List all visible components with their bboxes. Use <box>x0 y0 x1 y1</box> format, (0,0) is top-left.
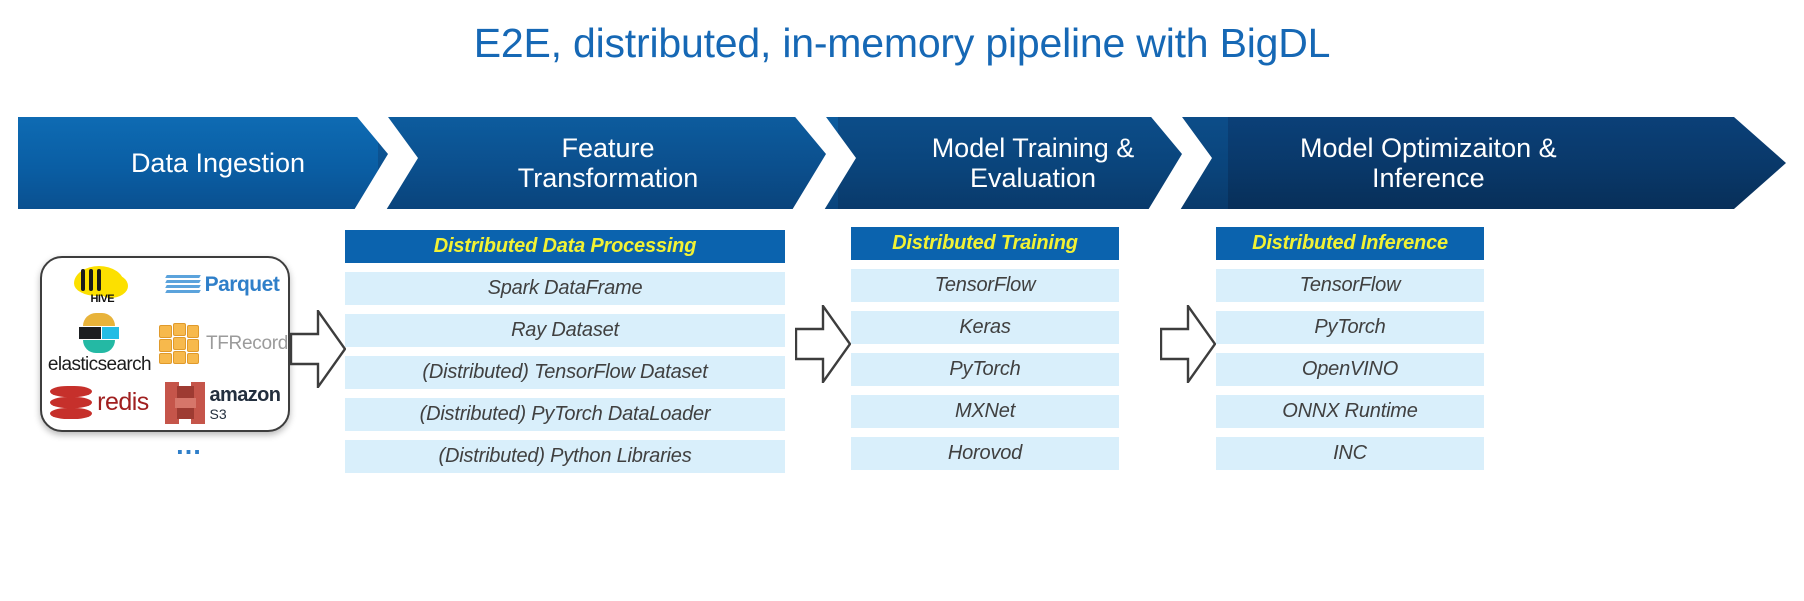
table-row[interactable]: TensorFlow <box>851 269 1119 302</box>
stage-label: Model Training & Evaluation <box>932 133 1135 194</box>
tfrecord-icon <box>157 323 201 365</box>
parquet-label: Parquet <box>205 273 280 297</box>
elasticsearch-label: elasticsearch <box>48 354 151 376</box>
table-row[interactable]: Horovod <box>851 437 1119 470</box>
flow-arrow-icon-3 <box>1160 305 1216 383</box>
hive-icon: HIVE <box>68 262 130 308</box>
stage-label-line2: Evaluation <box>932 163 1135 194</box>
stage-label-line2: Transformation <box>518 163 699 194</box>
amazon-label: amazon <box>210 385 281 405</box>
stage-model-optimization-inference[interactable]: Model Optimizaiton & Inference <box>1228 117 1786 209</box>
stage-label: Data Ingestion <box>131 148 305 179</box>
table-row[interactable]: (Distributed) PyTorch DataLoader <box>345 398 785 431</box>
stage-label-line1: Model Optimizaiton & <box>1300 133 1557 164</box>
slide-canvas: E2E, distributed, in-memory pipeline wit… <box>0 0 1804 601</box>
table-header: Distributed Inference <box>1216 227 1484 260</box>
table-row[interactable]: PyTorch <box>1216 311 1484 344</box>
parquet-logo: Parquet <box>166 273 280 297</box>
hive-label: HIVE <box>90 293 114 305</box>
table-row[interactable]: INC <box>1216 437 1484 470</box>
elasticsearch-logo: elasticsearch <box>48 313 151 376</box>
data-sources-box: HIVE Parquet elasticsearch <box>40 256 290 432</box>
hive-logo: HIVE <box>68 262 130 308</box>
table-row[interactable]: (Distributed) TensorFlow Dataset <box>345 356 785 389</box>
flow-arrow-icon-1 <box>290 310 346 388</box>
stage-label-line1: Feature <box>518 133 699 164</box>
redis-logo: redis <box>50 386 149 420</box>
table-distributed-training: Distributed Training TensorFlow Keras Py… <box>851 227 1119 470</box>
elasticsearch-icon <box>77 313 121 353</box>
table-row[interactable]: MXNet <box>851 395 1119 428</box>
table-row[interactable]: PyTorch <box>851 353 1119 386</box>
table-row[interactable]: ONNX Runtime <box>1216 395 1484 428</box>
table-distributed-data-processing: Distributed Data Processing Spark DataFr… <box>345 230 785 473</box>
table-row[interactable]: (Distributed) Python Libraries <box>345 440 785 473</box>
stage-label: Feature Transformation <box>518 133 699 194</box>
more-sources-ellipsis: … <box>175 432 204 459</box>
table-header: Distributed Training <box>851 227 1119 260</box>
table-header: Distributed Data Processing <box>345 230 785 263</box>
redis-label: redis <box>97 388 149 417</box>
amazon-s3-sublabel: S3 <box>210 407 281 421</box>
table-distributed-inference: Distributed Inference TensorFlow PyTorch… <box>1216 227 1484 470</box>
stage-model-training-evaluation[interactable]: Model Training & Evaluation <box>838 117 1228 209</box>
flow-arrow-icon-2 <box>795 305 851 383</box>
stage-label-line2: Inference <box>1300 163 1557 194</box>
redis-icon <box>50 386 92 420</box>
data-source-logo-grid: HIVE Parquet elasticsearch <box>42 258 288 430</box>
table-row[interactable]: Keras <box>851 311 1119 344</box>
stage-label-line1: Model Training & <box>932 133 1135 164</box>
stage-feature-transformation[interactable]: Feature Transformation <box>378 117 838 209</box>
table-row[interactable]: TensorFlow <box>1216 269 1484 302</box>
page-title: E2E, distributed, in-memory pipeline wit… <box>0 20 1804 67</box>
stage-data-ingestion[interactable]: Data Ingestion <box>18 117 418 209</box>
amazon-s3-icon <box>165 382 205 424</box>
tfrecord-logo: TFRecord <box>157 323 288 365</box>
parquet-icon <box>166 273 200 297</box>
stage-label: Model Optimizaiton & Inference <box>1300 133 1557 194</box>
tfrecord-label: TFRecord <box>206 333 288 355</box>
amazon-s3-logo: amazon S3 <box>165 382 281 424</box>
pipeline-stage-banner: Data Ingestion Feature Transformation Mo… <box>18 117 1786 209</box>
table-row[interactable]: OpenVINO <box>1216 353 1484 386</box>
table-row[interactable]: Ray Dataset <box>345 314 785 347</box>
table-row[interactable]: Spark DataFrame <box>345 272 785 305</box>
